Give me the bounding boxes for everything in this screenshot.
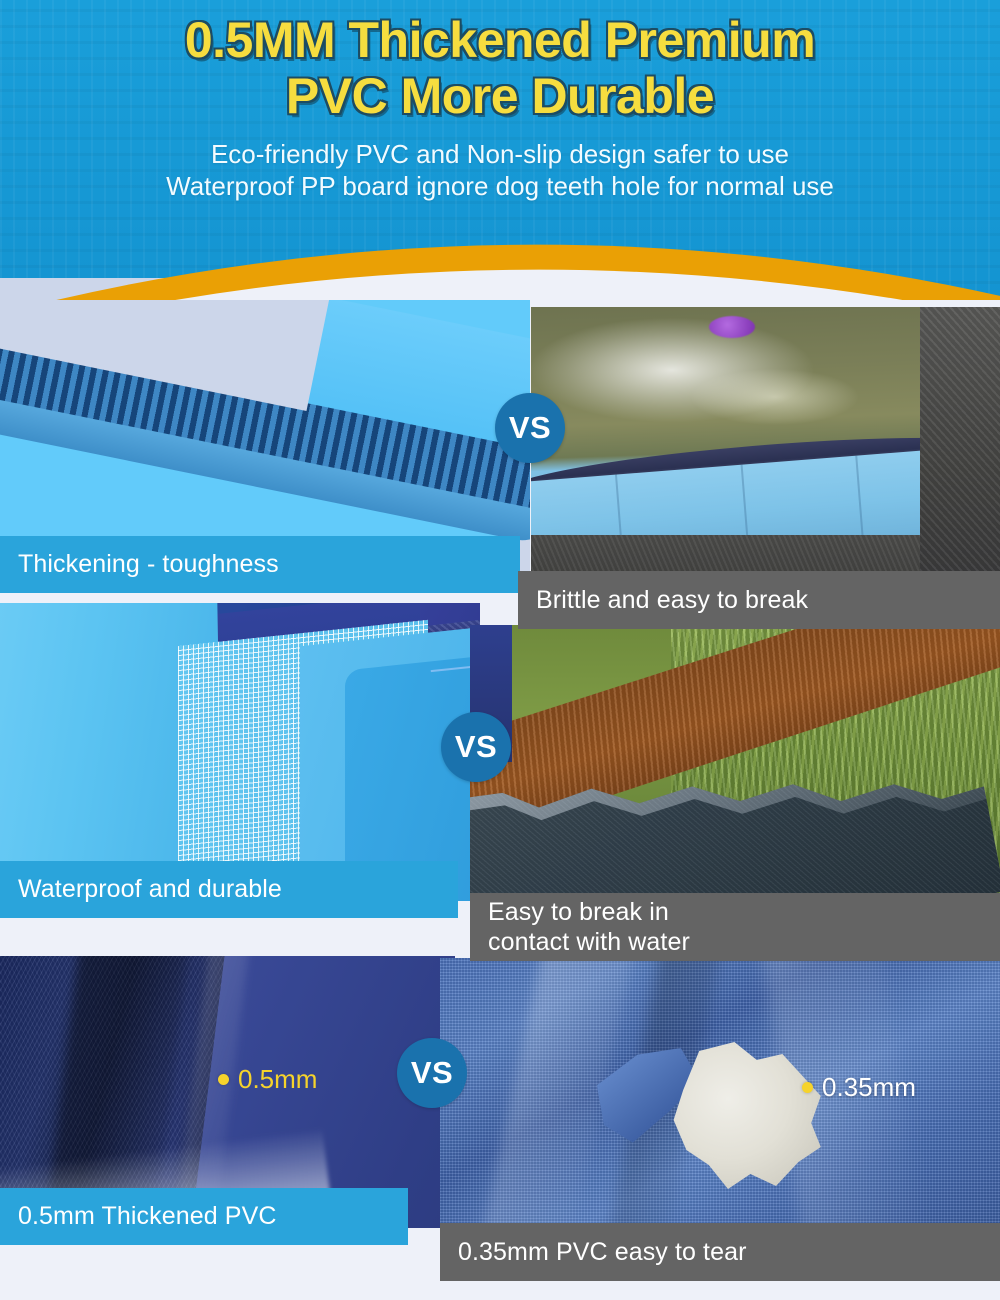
subtitle-line-1: Eco-friendly PVC and Non-slip design saf… — [16, 138, 984, 170]
vs-badge-row-3: VS — [397, 1038, 467, 1108]
panel-water-damage-bad — [470, 625, 1000, 922]
annotation-0-5mm: 0.5mm — [218, 1064, 317, 1095]
header-banner: 0.5MM Thickened Premium PVC More Durable… — [0, 0, 1000, 300]
title-line-2: PVC More Durable — [20, 68, 980, 124]
annotation-text: 0.5mm — [238, 1064, 317, 1095]
annotation-0-35mm: 0.35mm — [802, 1072, 916, 1103]
caption-line-1: Easy to break in — [488, 897, 669, 927]
page-title: 0.5MM Thickened Premium PVC More Durable — [0, 12, 1000, 124]
yellow-arc-divider — [0, 180, 1000, 300]
caption-easy-break-water: Easy to break in contact with water — [470, 893, 1000, 961]
vs-badge-row-2: VS — [441, 712, 511, 782]
infographic-page: 0.5MM Thickened Premium PVC More Durable… — [0, 0, 1000, 1300]
annotation-dot-icon — [802, 1082, 813, 1093]
vs-label: VS — [509, 410, 551, 446]
panel-waterproof-good — [0, 603, 480, 901]
panel-thickening-good: 7mm — [0, 278, 530, 575]
cracked-pool-photo — [531, 307, 1000, 607]
caption-thickened-pvc: 0.5mm Thickened PVC — [0, 1188, 408, 1245]
caption-thin-pvc-tear: 0.35mm PVC easy to tear — [440, 1223, 1000, 1281]
vs-label: VS — [411, 1055, 453, 1091]
vs-label: VS — [455, 729, 497, 765]
caption-thickening-toughness: Thickening - toughness — [0, 536, 520, 593]
caption-line-2: contact with water — [488, 927, 690, 957]
caption-brittle-easy-break: Brittle and easy to break — [518, 571, 1000, 629]
layered-pvc-mesh-illustration — [0, 603, 480, 901]
caption-waterproof-durable: Waterproof and durable — [0, 861, 458, 918]
rotted-board-photo — [470, 625, 1000, 922]
annotation-text: 0.35mm — [822, 1072, 916, 1103]
vs-badge-row-1: VS — [495, 393, 565, 463]
title-line-1: 0.5MM Thickened Premium — [185, 12, 815, 68]
torn-blue-tarp-photo — [440, 958, 1000, 1258]
comparison-grid: 7mm Thickening - toughness Brittle and e… — [0, 278, 1000, 1300]
corrugated-board-illustration — [0, 278, 530, 575]
panel-thin-pvc-bad: 0.35mm — [440, 958, 1000, 1258]
panel-brittle-bad — [531, 307, 1000, 607]
annotation-dot-icon — [218, 1074, 229, 1085]
